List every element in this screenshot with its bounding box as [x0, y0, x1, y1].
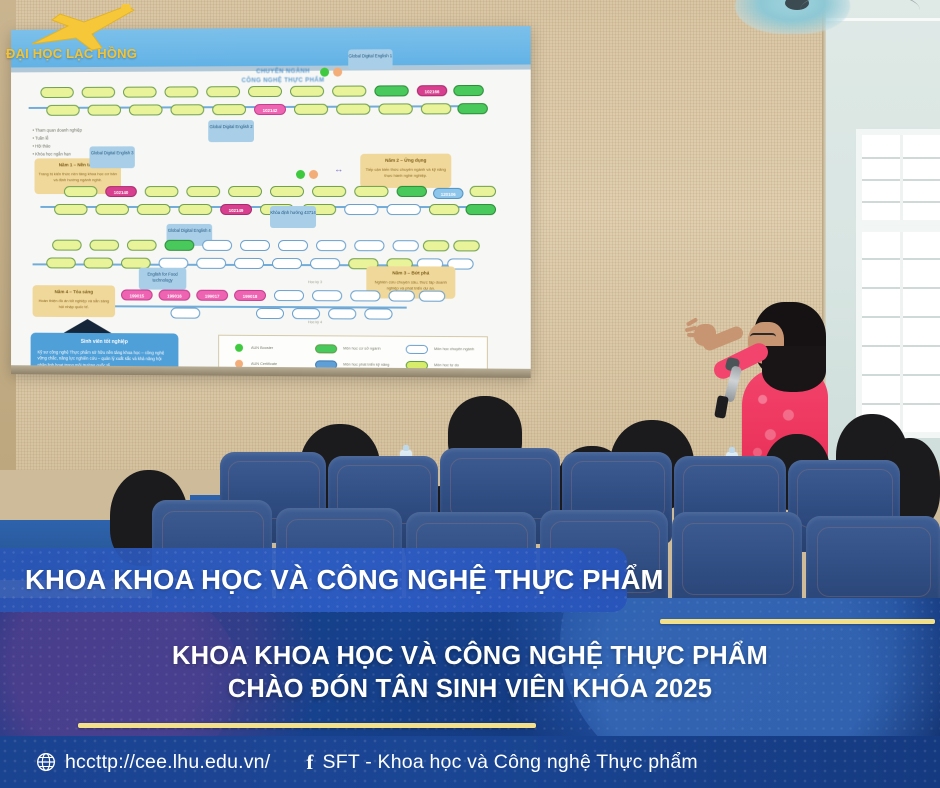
projection-screen: CHUYÊN NGÀNH CÔNG NGHỆ THỰC PHẨM 102166: [11, 26, 531, 378]
slide-code-pill: 199017: [196, 290, 228, 301]
slide-note: Khóa định hướng 43714: [270, 206, 316, 228]
slide-code-pill: 102166: [417, 85, 447, 96]
slide-code-pill: 199015: [121, 289, 153, 300]
slide-semester-label: Học kỳ 4: [308, 320, 322, 324]
accent-line-bottom: [78, 723, 536, 728]
footer-bar: hccttp://cee.lhu.edu.vn/ f SFT - Khoa họ…: [0, 736, 940, 788]
slide-note: English for Food technology: [139, 268, 187, 290]
slide-year-box: Năm 2 – Ứng dụng Tiếp cận kiến thức chuy…: [360, 154, 451, 188]
phone: [714, 395, 729, 419]
window-upper: [862, 135, 940, 220]
slide-code-pill: 102142: [254, 104, 286, 115]
poster-root: CHUYÊN NGÀNH CÔNG NGHỆ THỰC PHẨM 102166: [0, 0, 940, 788]
headline-line-2: CHÀO ĐÓN TÂN SINH VIÊN KHÓA 2025: [0, 673, 940, 706]
logo-text: ĐẠI HỌC LẠC HỒNG: [6, 46, 137, 61]
slide-code-pill: 102140: [105, 186, 137, 197]
slide-code-pill: 199016: [159, 290, 191, 301]
airplane-swoosh-icon: [22, 4, 140, 50]
facebook-icon: f: [306, 750, 313, 775]
faculty-banner: KHOA KHOA HỌC VÀ CÔNG NGHỆ THỰC PHẨM: [0, 548, 627, 612]
slide-title: CHUYÊN NGÀNH CÔNG NGHỆ THỰC PHẨM: [183, 67, 383, 85]
faculty-banner-text: KHOA KHOA HỌC VÀ CÔNG NGHỆ THỰC PHẨM: [25, 564, 664, 596]
slide-code-pill: 120106: [433, 188, 463, 199]
globe-icon: [36, 752, 56, 772]
slide-year-box: Năm 4 – Tỏa sáng Hoàn thiện đồ án tốt ng…: [33, 285, 116, 317]
facebook-group[interactable]: f SFT - Khoa học và Công nghệ Thực phẩm: [306, 750, 697, 775]
accent-line-right: [660, 619, 935, 624]
university-logo: ĐẠI HỌC LẠC HỒNG: [4, 2, 154, 66]
website-url[interactable]: hccttp://cee.lhu.edu.vn/: [65, 751, 270, 774]
slide-code-pill: 102149: [220, 204, 252, 215]
slide-code-pill: 199018: [234, 290, 266, 301]
slide-note: Global Digital English 1: [348, 49, 392, 69]
website-group[interactable]: hccttp://cee.lhu.edu.vn/: [36, 751, 270, 774]
slide-note: Global Digital English 3: [90, 146, 135, 168]
event-photo: CHUYÊN NGÀNH CÔNG NGHỆ THỰC PHẨM 102166: [0, 0, 940, 620]
window-lower: [862, 232, 940, 432]
slide-note: Global Digital English 2: [208, 120, 254, 142]
graduation-cap-icon: [62, 319, 113, 334]
event-headline: KHOA KHOA HỌC VÀ CÔNG NGHỆ THỰC PHẨM CHÀ…: [0, 640, 940, 706]
headline-line-1: KHOA KHOA HỌC VÀ CÔNG NGHỆ THỰC PHẨM: [0, 640, 940, 673]
facebook-page-name[interactable]: SFT - Khoa học và Công nghệ Thực phẩm: [323, 751, 698, 774]
slide-semester-label: Học kỳ 3: [308, 280, 322, 284]
slide-side-notes: • Tham quan doanh nghiệp • Tuần lễ • Hội…: [33, 127, 94, 159]
